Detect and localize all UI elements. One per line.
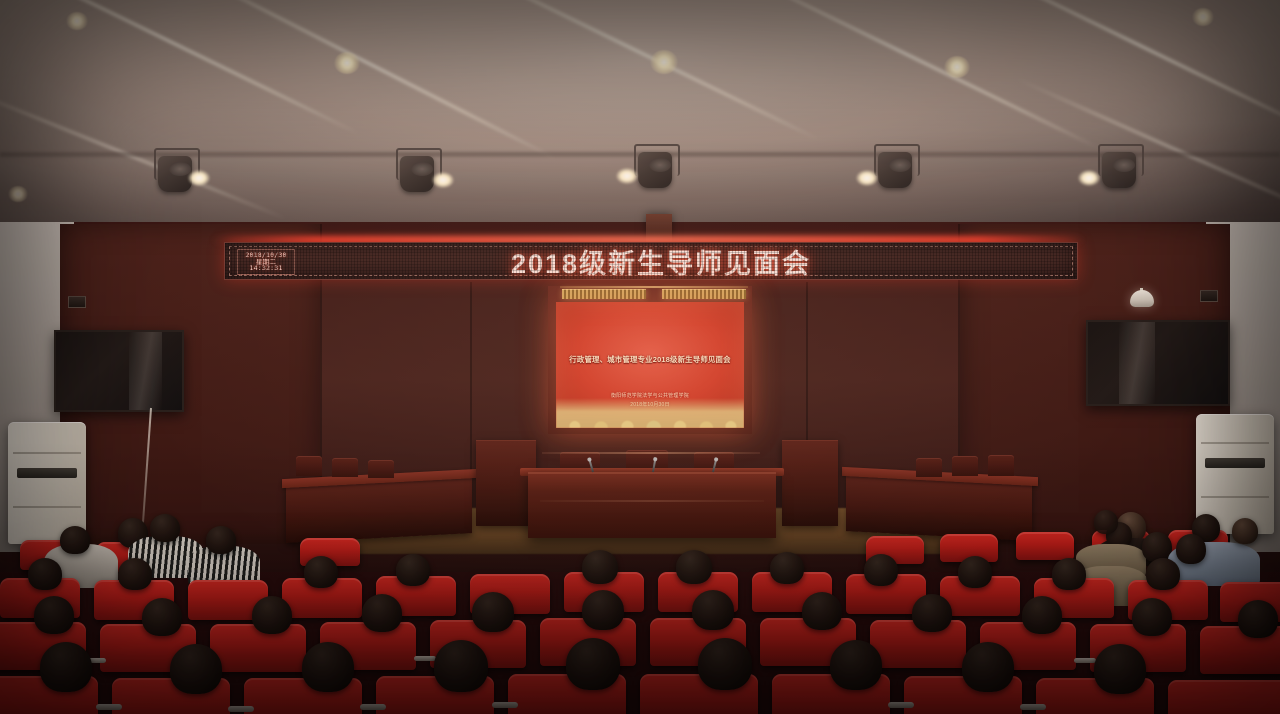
seated-attendee: [302, 642, 354, 692]
seat-armrest: [360, 704, 386, 710]
ac-panel-line: [1201, 442, 1270, 444]
seat-armrest: [1020, 704, 1046, 710]
seated-attendee: [118, 558, 152, 590]
auditorium-photo: 2018/10/30 星期二 14:32:31 2018级新生导师见面会 行政管…: [0, 0, 1280, 714]
stage-chair: [952, 456, 978, 476]
red-theater-seat: [1016, 532, 1074, 560]
slide-gold-cloud-pattern: [556, 398, 744, 428]
seat-armrest: [492, 702, 518, 708]
seated-attendee: [1146, 558, 1180, 590]
stage-chair: [368, 460, 394, 478]
spotlight-housing: [400, 156, 434, 192]
recessed-downlight: [650, 50, 678, 74]
seated-attendee: [830, 640, 882, 690]
seated-attendee: [1094, 510, 1118, 534]
seated-attendee: [1022, 596, 1062, 634]
seat-armrest: [414, 656, 436, 661]
audience-seating: [0, 500, 1280, 714]
wall-mounted-tv: [54, 330, 184, 412]
red-theater-seat: [210, 624, 306, 672]
spotlight-housing: [158, 156, 192, 192]
seated-attendee: [1176, 534, 1206, 564]
spotlight-glow: [188, 170, 210, 186]
seated-attendee: [40, 642, 92, 692]
recessed-downlight: [1192, 8, 1214, 26]
seated-attendee: [698, 638, 752, 690]
seated-attendee: [566, 638, 620, 690]
seated-attendee: [304, 556, 338, 588]
projection-screen: 行政管理、城市管理专业2018级新生导师见面会 衡阳师范学院法学与公共管理学院 …: [556, 302, 744, 428]
led-banner: 2018/10/30 星期二 14:32:31 2018级新生导师见面会: [224, 242, 1078, 280]
wall-seam: [470, 282, 472, 492]
seated-attendee: [396, 554, 430, 586]
spotlight-glow: [856, 170, 878, 186]
seated-attendee: [434, 640, 488, 692]
seated-attendee: [912, 594, 952, 632]
stage-par-can-spotlight: [152, 146, 198, 198]
recessed-downlight: [334, 52, 360, 74]
spotlight-lens: [169, 162, 191, 176]
seated-attendee: [362, 594, 402, 632]
seat-armrest: [228, 706, 254, 712]
spotlight-glow: [616, 168, 638, 184]
spotlight-glow: [432, 172, 454, 188]
stage-chair: [296, 456, 322, 476]
recessed-downlight: [8, 186, 28, 202]
ac-panel-line: [13, 452, 82, 454]
seated-attendee: [958, 556, 992, 588]
wall-speaker: [68, 296, 86, 308]
ac-vent-grill: [1205, 458, 1264, 468]
led-banner-headline: 2018级新生导师见面会: [225, 243, 1077, 279]
slide-title: 行政管理、城市管理专业2018级新生导师见面会: [562, 354, 738, 365]
ac-panel-line: [1201, 496, 1270, 498]
seated-attendee: [962, 642, 1014, 692]
seated-attendee: [1232, 518, 1258, 544]
stage-par-can-spotlight: [872, 142, 918, 194]
seated-attendee: [802, 592, 842, 630]
seated-attendee: [1052, 558, 1086, 590]
tv-screen-reflection: [129, 332, 162, 410]
spotlight-housing: [638, 152, 672, 188]
chair-rail: [542, 452, 760, 454]
stage-par-can-spotlight: [1096, 142, 1142, 194]
recessed-downlight: [66, 12, 88, 30]
seated-attendee: [770, 552, 804, 584]
stage-par-can-spotlight: [394, 146, 440, 198]
seated-attendee: [676, 550, 712, 584]
seated-attendee: [1132, 598, 1172, 636]
stage-chair: [332, 458, 358, 477]
spotlight-lens: [1113, 158, 1135, 172]
tv-screen-reflection: [1119, 322, 1155, 404]
wall-sconce-lamp: [1130, 290, 1154, 307]
seated-attendee: [582, 550, 618, 584]
seated-attendee: [142, 598, 182, 636]
stage-chair: [988, 455, 1014, 476]
seated-attendee: [206, 526, 236, 554]
spotlight-lens: [889, 158, 911, 172]
seated-attendee: [472, 592, 514, 632]
seated-attendee: [60, 526, 90, 554]
seated-attendee: [582, 590, 624, 630]
red-theater-seat: [1168, 680, 1280, 714]
spotlight-lens: [411, 162, 433, 176]
seated-attendee: [692, 590, 734, 630]
spotlight-housing: [878, 152, 912, 188]
seated-attendee: [170, 644, 222, 694]
recessed-downlight: [944, 56, 970, 78]
stage-par-can-spotlight: [632, 142, 678, 194]
ac-vent-grill: [17, 468, 76, 478]
seated-attendee: [252, 596, 292, 634]
ceiling-lighting-gradient: [0, 0, 1280, 240]
seated-attendee: [1094, 644, 1146, 694]
seated-attendee: [34, 596, 74, 634]
wall-mounted-tv: [1086, 320, 1230, 406]
screen-decor-panel-right: [662, 289, 746, 299]
screen-decor-panel-left: [562, 289, 646, 299]
seated-attendee: [150, 514, 180, 542]
spotlight-lens: [649, 158, 671, 172]
seated-attendee: [864, 554, 898, 586]
seat-armrest: [888, 702, 914, 708]
seat-armrest: [1074, 658, 1096, 663]
seated-attendee: [1238, 600, 1278, 638]
seat-armrest: [96, 704, 122, 710]
screen-top-rail: [560, 286, 748, 288]
stage-chair: [916, 458, 942, 477]
spotlight-glow: [1078, 170, 1100, 186]
spotlight-housing: [1102, 152, 1136, 188]
wall-speaker: [1200, 290, 1218, 302]
seated-attendee: [28, 558, 62, 590]
